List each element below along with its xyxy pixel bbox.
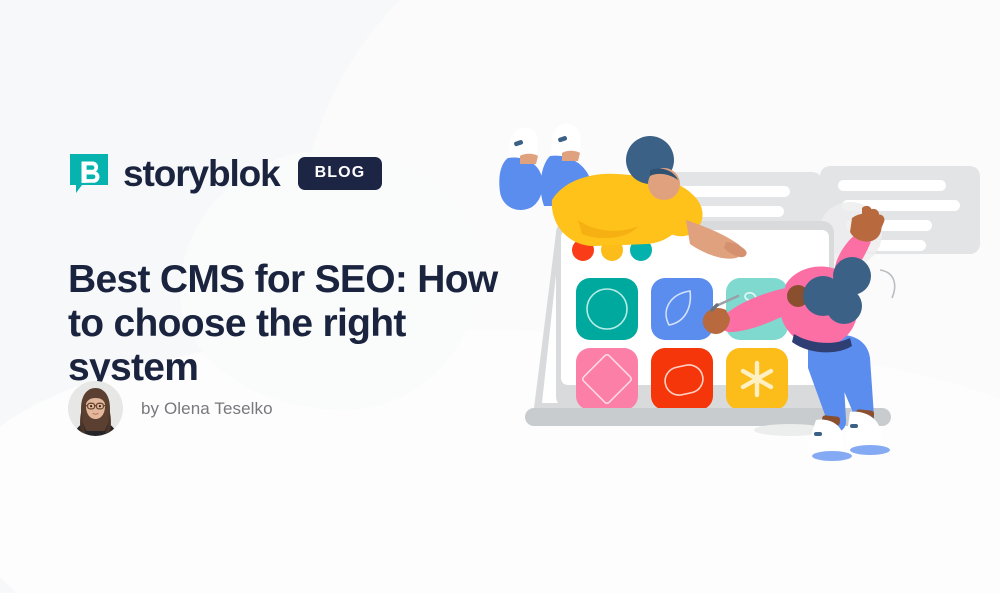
brand-row: storyblok BLOG (68, 152, 382, 194)
storyblok-wordmark: storyblok (123, 155, 280, 192)
byline-text: by Olena Teselko (141, 399, 273, 419)
hair-bun-3 (826, 288, 862, 324)
tile-circle (576, 278, 638, 340)
blog-badge[interactable]: BLOG (298, 157, 383, 190)
page-title: Best CMS for SEO: How to choose the righ… (68, 258, 528, 390)
tile-diamond (576, 348, 638, 410)
storyblok-logo-lockup[interactable]: storyblok (68, 152, 280, 194)
byline: by Olena Teselko (68, 381, 273, 436)
blog-hero-banner: storyblok BLOG Best CMS for SEO: How to … (0, 0, 1000, 593)
hero-illustration (490, 120, 1000, 470)
hero-content-column: storyblok BLOG Best CMS for SEO: How to … (68, 0, 538, 593)
storyblok-speech-bubble-b-icon (68, 152, 110, 194)
tile-pill (651, 348, 713, 410)
author-avatar (68, 381, 123, 436)
tile-asterisk (726, 348, 788, 410)
